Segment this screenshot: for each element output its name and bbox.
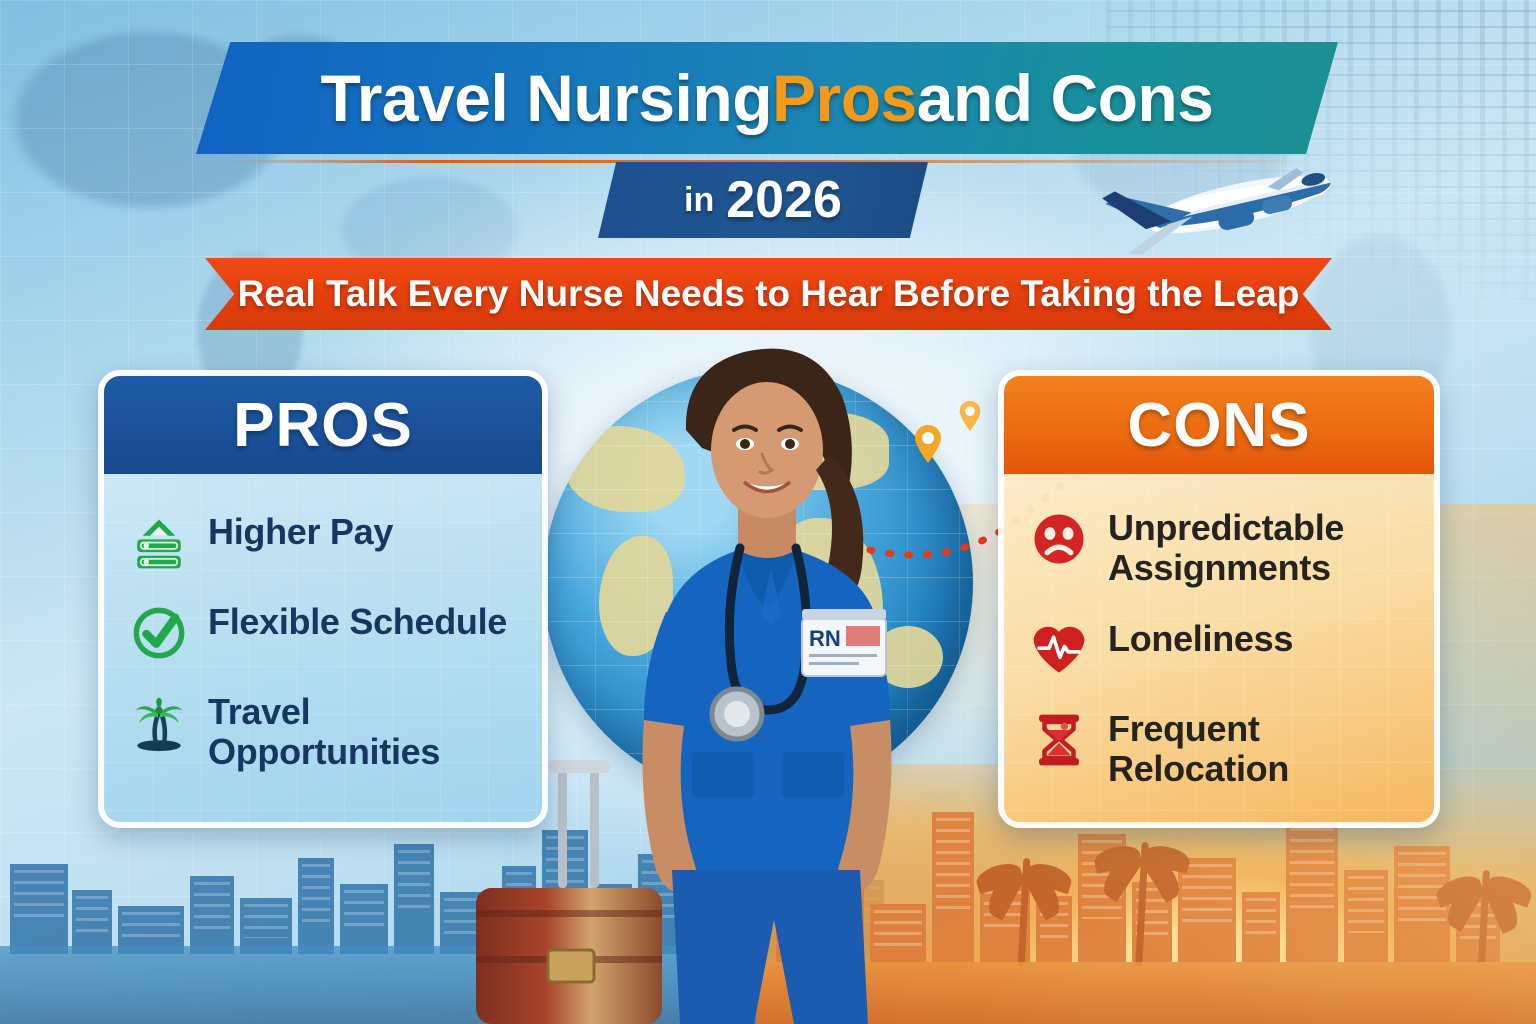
- year-label: in 2026: [598, 162, 928, 238]
- cons-list-item[interactable]: Loneliness: [1030, 619, 1412, 679]
- cons-card: CONS Unpredictable Assignments Lonelines…: [998, 370, 1440, 828]
- pros-list: Higher Pay Flexible Schedule: [104, 474, 542, 822]
- pros-list-item[interactable]: Flexible Schedule: [130, 602, 520, 662]
- airplane-icon: [1096, 152, 1346, 270]
- pros-item-label: Higher Pay: [208, 512, 393, 552]
- pros-card: PROS Higher Pay: [98, 370, 548, 828]
- pros-item-label: Flexible Schedule: [208, 602, 507, 642]
- nurse-badge-text: RN: [809, 626, 841, 651]
- money-stack-icon: [130, 514, 188, 572]
- pros-list-item[interactable]: Higher Pay: [130, 512, 520, 572]
- hourglass-icon: [1030, 711, 1088, 769]
- cons-item-label: Loneliness: [1108, 619, 1293, 659]
- heartbeat-icon: [1030, 621, 1088, 679]
- cons-list: Unpredictable Assignments Loneliness: [1004, 474, 1434, 822]
- cons-list-item[interactable]: Frequent Relocation: [1030, 709, 1412, 790]
- title-part-1: Travel Nursing: [321, 60, 773, 136]
- year-value: 2026: [726, 170, 842, 230]
- cons-item-label: Unpredictable Assignments: [1108, 508, 1412, 589]
- page-title: Travel Nursing Pros and Cons: [196, 42, 1338, 154]
- cons-list-item[interactable]: Unpredictable Assignments: [1030, 508, 1412, 589]
- sad-face-icon: [1030, 510, 1088, 568]
- cons-item-label: Frequent Relocation: [1108, 709, 1412, 790]
- title-part-2: and Cons: [917, 60, 1214, 136]
- title-accent-word: Pros: [772, 60, 917, 136]
- pros-item-label: Travel Opportunities: [208, 692, 520, 773]
- pros-heading: PROS: [104, 376, 542, 474]
- year-prefix: in: [684, 181, 714, 220]
- infographic-poster: Travel Nursing Pros and Cons in 2026 Rea…: [0, 0, 1536, 1024]
- cons-heading: CONS: [1004, 376, 1434, 474]
- palm-tree-icon: [130, 694, 188, 752]
- pros-list-item[interactable]: Travel Opportunities: [130, 692, 520, 773]
- check-circle-icon: [130, 604, 188, 662]
